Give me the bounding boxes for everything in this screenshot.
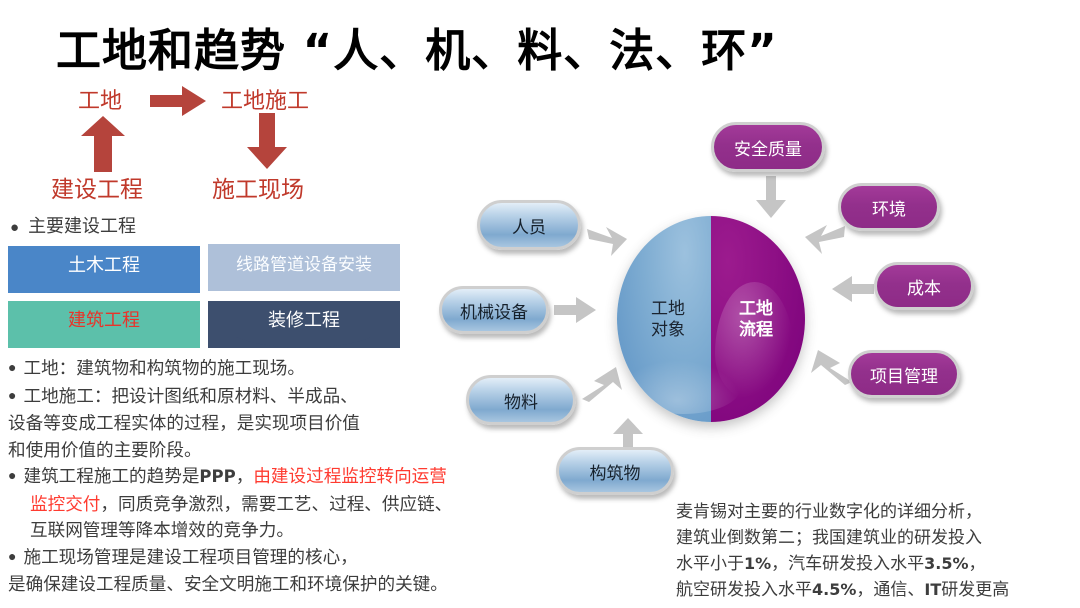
note-line3-c: ，: [969, 554, 986, 573]
flow-label-top-left: 工地: [78, 83, 122, 115]
flow-label-top-right: 工地施工: [221, 83, 309, 115]
note-line3-b: ，汽车研发投入水平: [771, 554, 924, 573]
note-line4-b: ，通信、: [856, 580, 924, 599]
slide-canvas: 工地和趋势 “人、机、料、法、环” 工地 工地施工 建设工程 施工现场 ●主要建…: [0, 0, 1080, 608]
note-value-construction-rd: 1%: [744, 554, 771, 573]
banner-notch: [208, 280, 400, 291]
trend-ppp: PPP: [199, 467, 235, 486]
pill-label: 构筑物: [590, 459, 641, 484]
trend-text-d: 互联网管理等降本增效的竞争力。: [30, 520, 294, 540]
pill-environment[interactable]: 环境: [838, 183, 940, 231]
paragraph-site-definition: ●工地：建筑物和构筑物的施工现场。: [8, 355, 536, 383]
flow-label-bottom-right: 施工现场: [212, 170, 304, 204]
banner-civil-engineering[interactable]: 土木工程: [8, 246, 200, 282]
pill-label: 人员: [512, 213, 546, 238]
arrow-down-icon: [247, 113, 287, 174]
banner-building-engineering[interactable]: 建筑工程: [8, 301, 200, 337]
paragraph-site-construction: ●工地施工：把设计图纸和原材料、半成品、 设备等变成工程实体的过程，是实现项目价…: [8, 383, 536, 464]
banner-label: 土木工程: [68, 251, 140, 277]
circle-label-process: 工地 流程: [713, 298, 799, 340]
trend-highlight-1: 由建设过程监控转向运营: [253, 466, 447, 486]
pill-safety-quality[interactable]: 安全质量: [711, 122, 825, 172]
banner-label: 建筑工程: [68, 306, 140, 332]
left-heading: ●主要建设工程: [10, 212, 136, 238]
banner-notch: [8, 282, 200, 293]
bullet-dot-icon: ●: [8, 361, 16, 376]
arrow-output-environment-icon: [801, 222, 847, 263]
pill-label: 项目管理: [870, 362, 938, 387]
pill-label: 物料: [504, 388, 538, 413]
pill-label: 环境: [872, 195, 906, 220]
note-line2: 建筑业倒数第二；我国建筑业的研发投入: [676, 528, 982, 547]
circle-label-process-line2: 流程: [713, 319, 799, 340]
banner-decoration-engineering[interactable]: 装修工程: [208, 301, 400, 337]
bullet-dot-icon: ●: [8, 389, 16, 404]
circle-label-process-line1: 工地: [713, 298, 799, 319]
pill-materials[interactable]: 物料: [466, 375, 576, 425]
left-paragraphs: ●工地：建筑物和构筑物的施工现场。 ●工地施工：把设计图纸和原材料、半成品、 设…: [8, 355, 536, 598]
bullet-dot-icon: ●: [8, 550, 16, 565]
mgmt-text-b: 是确保建设工程质量、安全文明施工和环境保护的关键。: [8, 574, 448, 594]
paragraph-text-line2: 设备等变成工程实体的过程，是实现项目价值: [8, 413, 360, 433]
central-circle: 工地 对象 工地 流程: [617, 216, 805, 422]
pill-personnel[interactable]: 人员: [477, 200, 581, 250]
bullet-dot-icon: ●: [10, 220, 19, 236]
pill-structures[interactable]: 构筑物: [556, 447, 674, 495]
note-value-auto-rd: 3.5%: [924, 554, 968, 573]
banner-notch: [208, 337, 400, 348]
circle-label-object-line2: 对象: [625, 319, 711, 340]
arrow-input-machinery-icon: [554, 297, 596, 328]
banner-notch: [8, 337, 200, 348]
arrow-output-project-management-icon: [808, 348, 854, 391]
paragraph-text: 工地：建筑物和构筑物的施工现场。: [23, 358, 305, 378]
paragraph-site-management: ●施工现场管理是建设工程项目管理的核心， 是确保建设工程质量、安全文明施工和环境…: [8, 544, 536, 598]
arrow-output-cost-icon: [832, 276, 874, 307]
page-title: 工地和趋势 “人、机、料、法、环”: [56, 14, 778, 79]
pill-cost[interactable]: 成本: [874, 262, 974, 310]
arrow-right-icon: [150, 86, 206, 121]
circle-label-object-line1: 工地: [625, 298, 711, 319]
pill-label: 机械设备: [460, 298, 528, 323]
paragraph-text-line1: 工地施工：把设计图纸和原材料、半成品、: [23, 386, 357, 406]
arrow-up-icon: [81, 116, 125, 177]
note-line3-a: 水平小于: [676, 554, 744, 573]
circle-label-object: 工地 对象: [625, 298, 711, 340]
trend-text-c: ，同质竞争激烈，需要工艺、过程、供应链、: [100, 494, 452, 514]
trend-highlight-2: 监控交付: [30, 494, 100, 514]
note-line4-c: 研发更高: [941, 580, 1009, 599]
paragraph-text-line3: 和使用价值的主要阶段。: [8, 440, 202, 460]
trend-text-a: 建筑工程施工的趋势是: [23, 466, 199, 486]
left-heading-label: 主要建设工程: [28, 216, 136, 236]
banner-pipeline-equipment-install[interactable]: 线路管道设备安装: [208, 244, 400, 280]
paragraph-trend: ●建筑工程施工的趋势是PPP，由建设过程监控转向运营 监控交付，同质竞争激烈，需…: [8, 463, 536, 544]
note-value-aviation-rd: 4.5%: [812, 580, 856, 599]
banner-label: 装修工程: [268, 306, 340, 332]
trend-comma: ，: [236, 466, 254, 486]
pill-machinery[interactable]: 机械设备: [439, 286, 549, 334]
mgmt-text-a: 施工现场管理是建设工程项目管理的核心，: [23, 547, 357, 567]
bullet-dot-icon: ●: [8, 469, 16, 484]
pill-label: 成本: [907, 274, 941, 299]
pill-label: 安全质量: [734, 135, 802, 160]
pill-project-management[interactable]: 项目管理: [848, 350, 960, 398]
note-line1: 麦肯锡对主要的行业数字化的详细分析，: [676, 502, 982, 521]
banner-label: 线路管道设备安装: [236, 250, 372, 275]
note-line4-a: 航空研发投入水平: [676, 580, 812, 599]
bottom-note: 麦肯锡对主要的行业数字化的详细分析， 建筑业倒数第二；我国建筑业的研发投入 水平…: [676, 499, 1080, 603]
note-label-it: IT: [924, 580, 941, 599]
